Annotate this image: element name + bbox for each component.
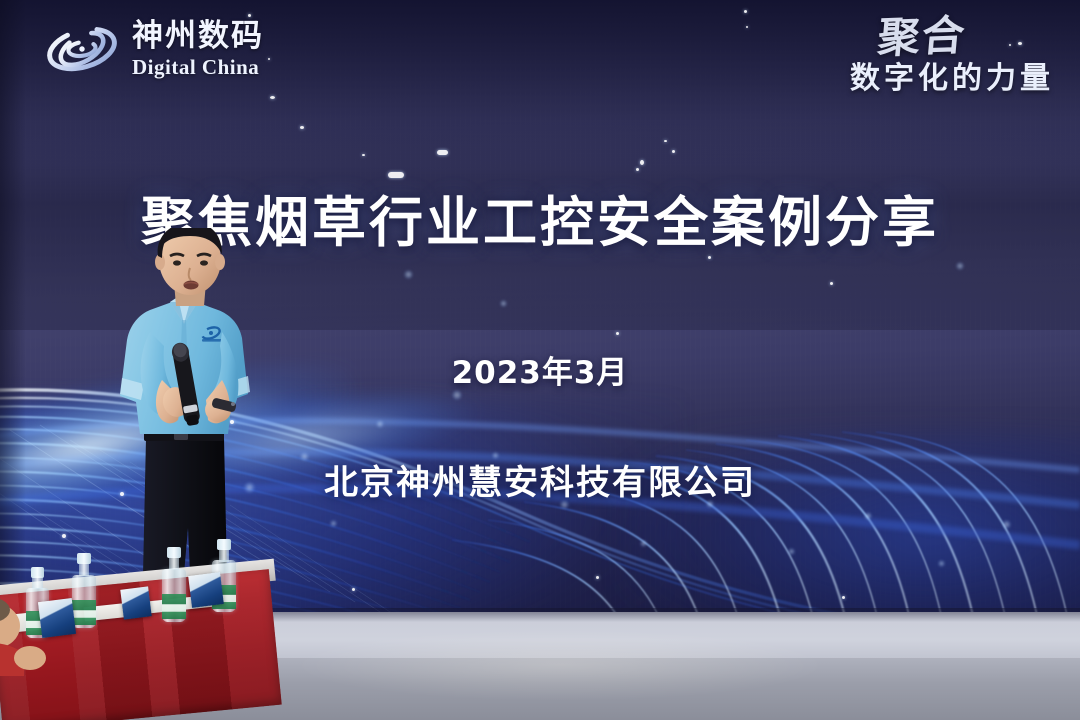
digital-china-brand-lockup: 神州数码 Digital China (44, 18, 264, 80)
name-card (38, 598, 76, 638)
stage-light-pool (300, 630, 820, 700)
event-slogan-lockup: 聚合 数字化的力量 (850, 16, 1054, 94)
name-card (120, 586, 151, 619)
conference-stage-screenshot: 神州数码 Digital China 聚合 数字化的力量 聚焦烟草行业工控安全案… (0, 0, 1080, 720)
slogan-subtitle: 数字化的力量 (850, 64, 1054, 94)
brand-name-en: Digital China (132, 57, 264, 78)
backdrop-left-shadow (0, 0, 26, 640)
digital-china-swirl-logo-icon (44, 18, 120, 80)
water-bottle (162, 548, 186, 622)
water-bottle (72, 554, 96, 628)
slogan-calligraphy: 聚合 (876, 14, 968, 59)
brand-name-cn: 神州数码 (132, 21, 264, 52)
name-card (188, 572, 224, 608)
